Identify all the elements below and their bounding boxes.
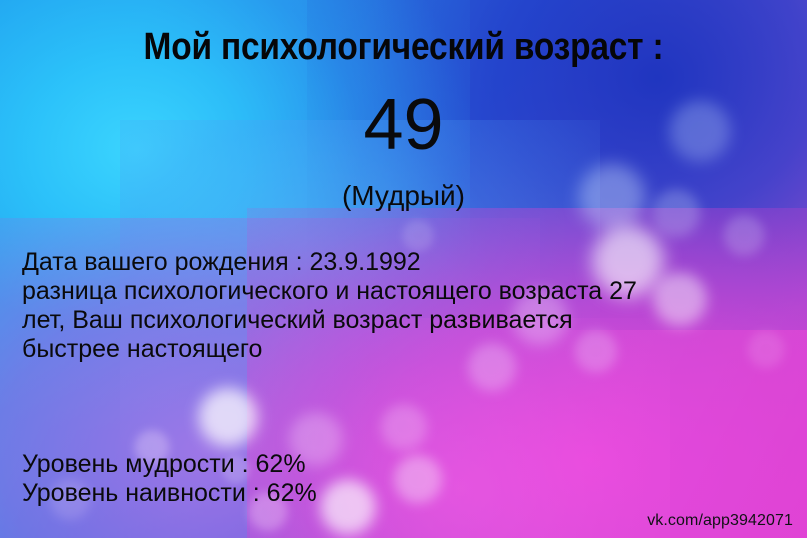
level-line: Уровень мудрости : 62% [22, 450, 317, 479]
page-title: Мой психологический возраст : [48, 26, 758, 69]
details-text: Дата вашего рождения : 23.9.1992разница … [22, 248, 782, 364]
details-line: быстрее настоящего [22, 335, 782, 364]
psychological-age-value: 49 [0, 89, 807, 161]
level-line: Уровень наивности : 62% [22, 479, 317, 508]
psychological-age-label: (Мудрый) [0, 182, 807, 210]
details-line: лет, Ваш психологический возраст развива… [22, 306, 782, 335]
details-line: разница психологического и настоящего во… [22, 277, 782, 306]
watermark-link[interactable]: vk.com/app3942071 [647, 512, 793, 530]
psychological-age-card: Мой психологический возраст : 49 (Мудрый… [0, 0, 807, 538]
levels-text: Уровень мудрости : 62%Уровень наивности … [22, 450, 317, 508]
details-line: Дата вашего рождения : 23.9.1992 [22, 248, 782, 277]
